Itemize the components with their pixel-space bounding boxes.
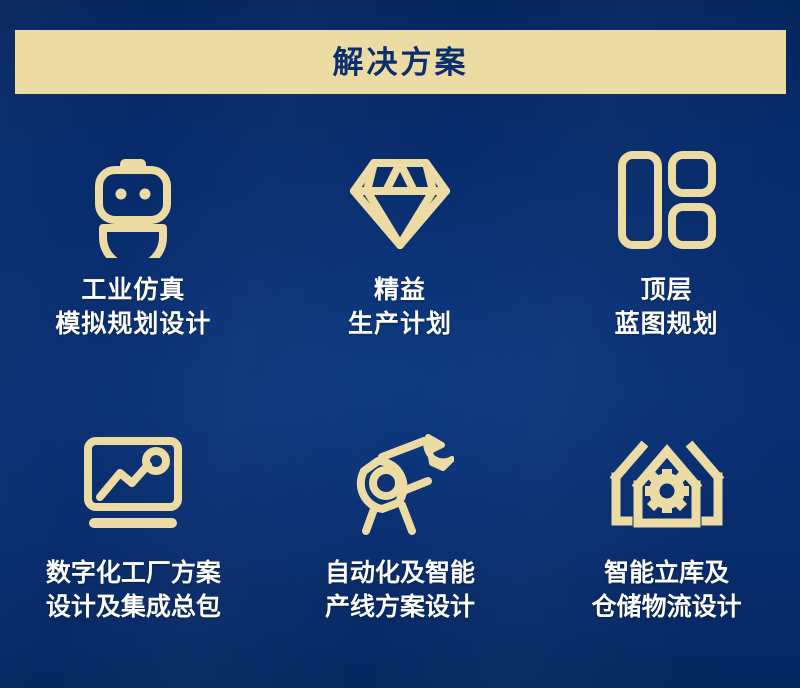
solution-card-label: 智能立库及 仓储物流设计 xyxy=(592,557,742,624)
solution-card-lean-production[interactable]: 精益 生产计划 xyxy=(267,112,534,395)
solution-card-label: 工业仿真 模拟规划设计 xyxy=(55,274,211,341)
solution-grid: 工业仿真 模拟规划设计 精益 生产计划 xyxy=(0,112,800,678)
solution-card-line1: 顶层 xyxy=(641,276,693,304)
solution-card-line2: 仓储物流设计 xyxy=(592,591,742,625)
solution-card-label: 精益 生产计划 xyxy=(348,274,452,341)
page-title: 解决方案 xyxy=(333,47,469,78)
section-banner: 解决方案 xyxy=(15,30,786,94)
warehouse-gear-icon xyxy=(608,423,726,543)
solution-card-line2: 蓝图规划 xyxy=(615,308,719,342)
chart-monitor-icon xyxy=(78,423,188,543)
solution-card-digital-factory[interactable]: 数字化工厂方案 设计及集成总包 xyxy=(0,395,267,678)
layout-blocks-icon xyxy=(614,140,720,260)
solution-card-line1: 自动化及智能 xyxy=(325,559,475,587)
solution-card-smart-warehouse[interactable]: 智能立库及 仓储物流设计 xyxy=(533,395,800,678)
solution-card-line1: 精益 xyxy=(374,276,426,304)
solution-card-line2: 设计及集成总包 xyxy=(46,591,221,625)
solution-card-line2: 生产计划 xyxy=(348,308,452,342)
solution-card-automation-line[interactable]: 自动化及智能 产线方案设计 xyxy=(267,395,534,678)
solution-card-label: 顶层 蓝图规划 xyxy=(615,274,719,341)
solution-card-label: 自动化及智能 产线方案设计 xyxy=(325,557,475,624)
robot-arm-wrench-icon xyxy=(346,423,454,543)
solution-card-line2: 产线方案设计 xyxy=(325,591,475,625)
solution-card-line1: 数字化工厂方案 xyxy=(46,559,221,587)
solution-card-line1: 智能立库及 xyxy=(604,559,729,587)
solution-card-top-level-blueprint[interactable]: 顶层 蓝图规划 xyxy=(533,112,800,395)
solution-poster: 解决方案 工业仿真 模拟规划设计 xyxy=(0,0,800,688)
diamond-icon xyxy=(348,140,452,260)
solution-card-line1: 工业仿真 xyxy=(81,276,185,304)
solution-card-line2: 模拟规划设计 xyxy=(55,308,211,342)
solution-card-industrial-simulation[interactable]: 工业仿真 模拟规划设计 xyxy=(0,112,267,395)
robot-icon xyxy=(81,140,185,260)
solution-card-label: 数字化工厂方案 设计及集成总包 xyxy=(46,557,221,624)
